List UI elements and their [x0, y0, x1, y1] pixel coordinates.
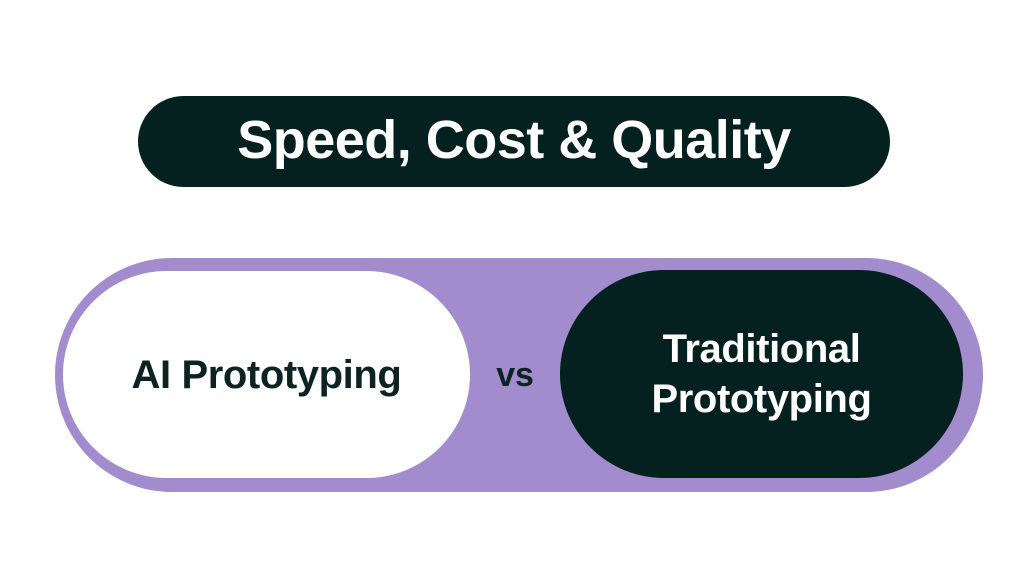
comparison-band: AI Prototyping vs Traditional Prototypin… [55, 258, 983, 492]
page-title: Speed, Cost & Quality [237, 113, 791, 167]
title-banner: Speed, Cost & Quality [138, 96, 890, 187]
option-label-ai-prototyping: AI Prototyping [118, 350, 416, 400]
option-card-traditional-prototyping[interactable]: Traditional Prototyping [560, 270, 963, 478]
slide-canvas: Speed, Cost & Quality AI Prototyping vs … [0, 0, 1024, 576]
option-label-traditional-prototyping: Traditional Prototyping [598, 324, 926, 424]
option-card-ai-prototyping[interactable]: AI Prototyping [63, 271, 470, 478]
versus-separator: vs [470, 258, 560, 492]
